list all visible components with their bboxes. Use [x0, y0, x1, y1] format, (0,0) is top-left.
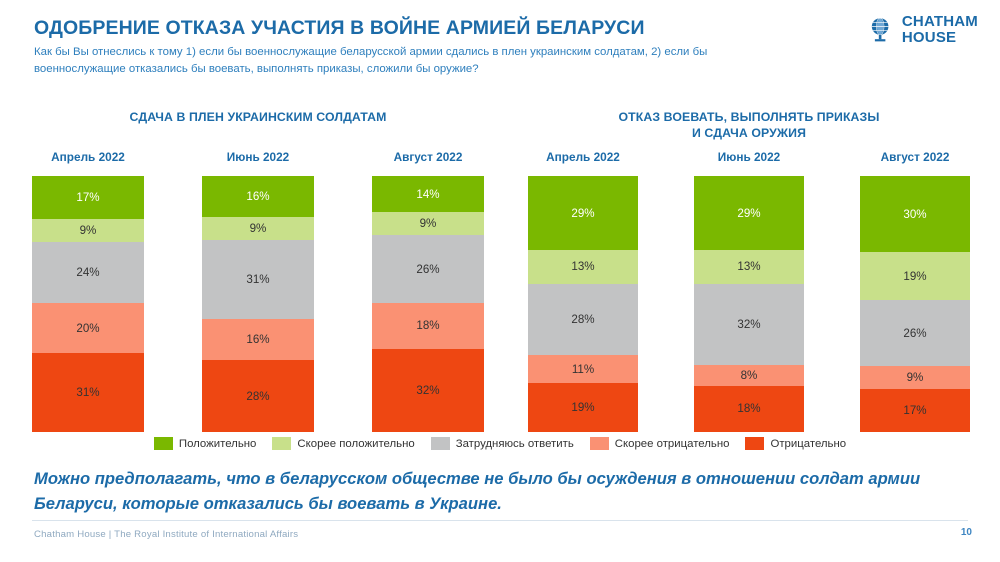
legend-item: Отрицательно — [745, 437, 846, 450]
legend-swatch-icon — [431, 437, 450, 450]
logo-line-1: CHATHAM — [902, 14, 978, 30]
bar-segment: 9% — [860, 366, 970, 389]
column-label: Август 2022 — [372, 150, 484, 164]
bar-segment: 14% — [372, 176, 484, 212]
bar-segment-value: 31% — [246, 273, 269, 286]
stacked-bar: 16%9%31%16%28% — [202, 176, 314, 432]
stacked-bar: 17%9%24%20%31% — [32, 176, 144, 432]
bar-segment: 24% — [32, 242, 144, 303]
column-labels-left: Апрель 2022 Июнь 2022 Август 2022 — [32, 150, 484, 164]
legend-item: Скорее положительно — [272, 437, 414, 450]
stacked-bar: 14%9%26%18%32% — [372, 176, 484, 432]
bar-segment-value: 30% — [903, 208, 926, 221]
bar-segment: 18% — [694, 386, 804, 432]
column-label: Июнь 2022 — [202, 150, 314, 164]
bar-segment: 29% — [528, 176, 638, 250]
bar-segment-value: 9% — [420, 217, 437, 230]
footer-divider — [32, 520, 968, 521]
chatham-house-logo: CHATHAM HOUSE — [867, 14, 978, 45]
bar-segment: 19% — [860, 252, 970, 300]
bar-segment: 8% — [694, 365, 804, 385]
bar-segment-value: 9% — [250, 222, 267, 235]
bar-segment-value: 16% — [246, 333, 269, 346]
bar-segment-value: 9% — [80, 224, 97, 237]
column-label: Август 2022 — [860, 150, 970, 164]
legend-swatch-icon — [272, 437, 291, 450]
legend-item: Затрудняюсь ответить — [431, 437, 574, 450]
bar-segment: 9% — [202, 217, 314, 240]
page-title: ОДОБРЕНИЕ ОТКАЗА УЧАСТИЯ В ВОЙНЕ АРМИЕЙ … — [34, 16, 834, 40]
bar-segment-value: 14% — [416, 188, 439, 201]
stacked-bars-right: 29%13%28%11%19%29%13%32%8%18%30%19%26%9%… — [528, 176, 970, 432]
bar-segment: 30% — [860, 176, 970, 252]
stacked-bar: 29%13%32%8%18% — [694, 176, 804, 432]
legend-swatch-icon — [154, 437, 173, 450]
bar-segment-value: 32% — [416, 384, 439, 397]
bar-segment: 16% — [202, 319, 314, 360]
bar-segment-value: 32% — [737, 318, 760, 331]
column-label: Апрель 2022 — [32, 150, 144, 164]
bar-segment: 26% — [860, 300, 970, 366]
bar-segment-value: 28% — [571, 313, 594, 326]
bar-segment: 29% — [694, 176, 804, 250]
bar-segment: 13% — [694, 250, 804, 283]
bar-segment-value: 29% — [571, 207, 594, 220]
bar-segment: 32% — [694, 284, 804, 366]
logo-wordmark: CHATHAM HOUSE — [902, 14, 978, 45]
logo-line-2: HOUSE — [902, 30, 978, 46]
chart-panel-surrender: СДАЧА В ПЛЕН УКРАИНСКИМ СОЛДАТАМ Апрель … — [32, 110, 484, 432]
bar-segment: 18% — [372, 303, 484, 350]
bar-segment-value: 28% — [246, 390, 269, 403]
stacked-bar: 29%13%28%11%19% — [528, 176, 638, 432]
bar-segment-value: 17% — [76, 191, 99, 204]
bar-segment-value: 17% — [903, 404, 926, 417]
legend-label: Положительно — [179, 438, 257, 450]
bar-segment-value: 31% — [76, 386, 99, 399]
legend-swatch-icon — [590, 437, 609, 450]
globe-icon — [867, 16, 895, 44]
bar-segment: 13% — [528, 250, 638, 283]
bar-segment: 20% — [32, 303, 144, 354]
bar-segment-value: 18% — [737, 402, 760, 415]
footer-attribution: Chatham House | The Royal Institute of I… — [34, 529, 298, 540]
bar-segment-value: 26% — [416, 263, 439, 276]
bar-segment: 31% — [202, 240, 314, 319]
chart-panel-refusal: ОТКАЗ ВОЕВАТЬ, ВЫПОЛНЯТЬ ПРИКАЗЫ И СДАЧА… — [528, 110, 970, 432]
page-subtitle: Как бы Вы отнеслись к тому 1) если бы во… — [34, 44, 794, 77]
bar-segment-value: 11% — [572, 363, 594, 376]
bar-segment: 28% — [202, 360, 314, 432]
conclusion-text: Можно предполагать, что в беларусском об… — [34, 466, 959, 516]
chart-legend: ПоложительноСкорее положительноЗатрудняю… — [0, 437, 1000, 450]
bar-segment: 32% — [372, 349, 484, 432]
column-label: Июнь 2022 — [694, 150, 804, 164]
bar-segment-value: 18% — [416, 319, 439, 332]
bar-segment-value: 26% — [903, 327, 926, 340]
bar-segment: 9% — [32, 219, 144, 242]
bar-segment-value: 8% — [741, 369, 758, 382]
page-number: 10 — [961, 527, 972, 538]
bar-segment-value: 13% — [571, 260, 594, 273]
bar-segment-value: 29% — [737, 207, 760, 220]
bar-segment-value: 9% — [907, 371, 924, 384]
bar-segment: 28% — [528, 284, 638, 356]
bar-segment-value: 16% — [246, 190, 269, 203]
chart-title-right-line2: И СДАЧА ОРУЖИЯ — [528, 126, 970, 142]
bar-segment: 31% — [32, 353, 144, 432]
bar-segment: 16% — [202, 176, 314, 217]
legend-label: Скорее положительно — [297, 438, 414, 450]
legend-item: Положительно — [154, 437, 257, 450]
chart-title-right: ОТКАЗ ВОЕВАТЬ, ВЫПОЛНЯТЬ ПРИКАЗЫ И СДАЧА… — [528, 110, 970, 142]
bar-segment: 17% — [860, 389, 970, 432]
bar-segment-value: 19% — [903, 270, 926, 283]
column-labels-right: Апрель 2022 Июнь 2022 Август 2022 — [528, 150, 970, 164]
bar-segment: 9% — [372, 212, 484, 235]
bar-segment-value: 24% — [76, 266, 99, 279]
stacked-bar: 30%19%26%9%17% — [860, 176, 970, 432]
bar-segment: 19% — [528, 383, 638, 432]
bar-segment-value: 13% — [737, 260, 760, 273]
legend-label: Затрудняюсь ответить — [456, 438, 574, 450]
legend-label: Отрицательно — [770, 438, 846, 450]
bar-segment: 17% — [32, 176, 144, 219]
column-label: Апрель 2022 — [528, 150, 638, 164]
legend-label: Скорее отрицательно — [615, 438, 730, 450]
bar-segment-value: 20% — [76, 322, 99, 335]
bar-segment-value: 19% — [571, 401, 594, 414]
bar-segment: 11% — [528, 355, 638, 383]
legend-swatch-icon — [745, 437, 764, 450]
bar-segment: 26% — [372, 235, 484, 302]
chart-title-right-line1: ОТКАЗ ВОЕВАТЬ, ВЫПОЛНЯТЬ ПРИКАЗЫ — [528, 110, 970, 126]
header: ОДОБРЕНИЕ ОТКАЗА УЧАСТИЯ В ВОЙНЕ АРМИЕЙ … — [34, 16, 834, 77]
stacked-bars-left: 17%9%24%20%31%16%9%31%16%28%14%9%26%18%3… — [32, 176, 484, 432]
legend-item: Скорее отрицательно — [590, 437, 730, 450]
chart-title-left: СДАЧА В ПЛЕН УКРАИНСКИМ СОЛДАТАМ — [32, 110, 484, 142]
